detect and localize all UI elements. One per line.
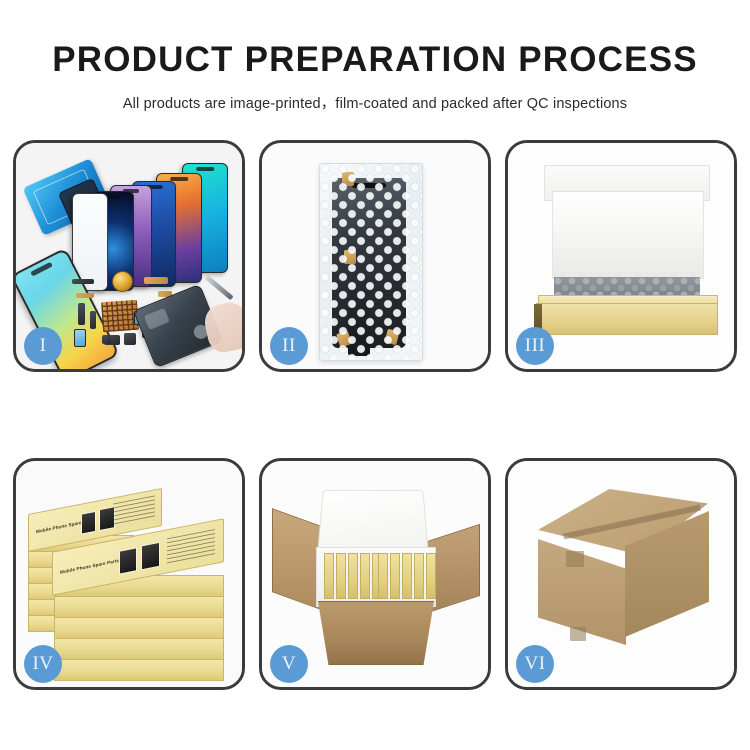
vibration-motor-part (112, 271, 133, 292)
step-badge-3: III (516, 327, 554, 365)
inner-box (414, 553, 424, 599)
retail-box (54, 659, 224, 681)
inner-box-front-panel (536, 303, 718, 335)
inner-box (402, 553, 412, 599)
bubble-wrap-texture (320, 164, 422, 360)
spare-part-chip (90, 311, 96, 329)
carton-front-panel (310, 601, 442, 665)
inner-box (360, 553, 370, 599)
foam-sheet (552, 191, 704, 279)
box-print-label: Mobile Phone Spare Parts (60, 558, 119, 575)
foam-lid-open (317, 490, 429, 556)
inner-box (348, 553, 358, 599)
phone-lineup (90, 161, 240, 281)
process-step-panel-3: III (505, 140, 737, 372)
spare-part-chip (102, 335, 111, 344)
inner-box (336, 553, 346, 599)
box-print-phone-image (119, 547, 137, 574)
process-step-panel-4: Mobile Phone Spare Parts Mobile Phone Sp… (13, 458, 245, 690)
box-print-phone-image (81, 511, 96, 535)
page-title: PRODUCT PREPARATION PROCESS (0, 0, 750, 80)
spare-part-chip (124, 333, 136, 345)
small-display-part (74, 329, 86, 347)
step-badge-1: I (24, 327, 62, 365)
spare-part-chip (78, 303, 85, 325)
process-step-panel-6: VI (505, 458, 737, 690)
phone-notch (30, 262, 53, 277)
phone-notch (196, 167, 214, 171)
inner-box (426, 553, 436, 599)
process-step-panel-2: II (259, 140, 491, 372)
inner-box-group-left (324, 553, 382, 597)
carton-tape-mark (566, 551, 584, 567)
retail-box (54, 638, 224, 660)
carton-tape-mark (570, 627, 586, 641)
retail-box-stack: Mobile Phone Spare Parts Mobile Phone Sp… (24, 479, 240, 679)
retail-box (54, 596, 224, 618)
process-step-grid: I II III (13, 140, 737, 690)
bubble-wrap-package (319, 163, 423, 361)
inner-box (390, 553, 400, 599)
retail-box (54, 617, 224, 639)
step-badge-2: II (270, 327, 308, 365)
header: PRODUCT PREPARATION PROCESS All products… (0, 0, 750, 113)
inner-box-group-right (378, 553, 436, 597)
inner-box (378, 553, 388, 599)
process-step-panel-5: V (259, 458, 491, 690)
box-print-phone-image (141, 542, 160, 571)
step-badge-6: VI (516, 645, 554, 683)
flex-cable (76, 293, 94, 298)
flex-cable (144, 277, 168, 284)
phone-notch (170, 177, 188, 181)
step-badge-4: IV (24, 645, 62, 683)
step-badge-5: V (270, 645, 308, 683)
box-print-text-block (113, 495, 155, 527)
box-print-text-block (167, 529, 215, 564)
inner-box (324, 553, 334, 599)
page-subtitle: All products are image-printed，film-coat… (0, 80, 750, 113)
process-step-panel-1: I (13, 140, 245, 372)
spare-part-chip (72, 279, 94, 284)
